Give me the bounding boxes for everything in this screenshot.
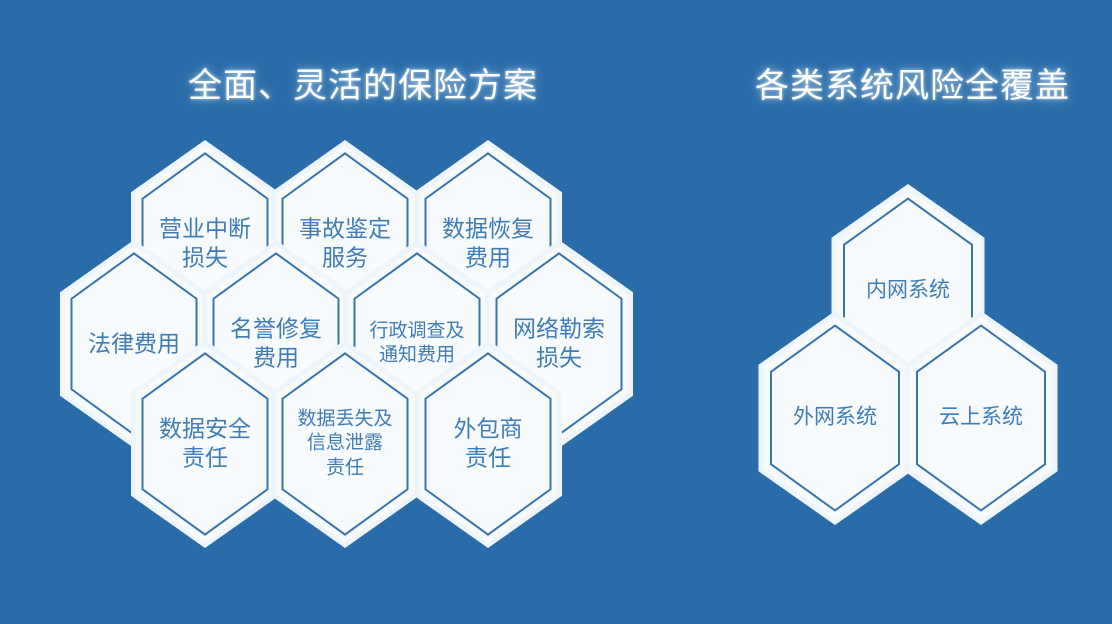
- system-risk-coverage-honeycomb: [761, 187, 1055, 522]
- insurance-coverage-honeycomb: [63, 143, 631, 545]
- honeycomb-diagram: [0, 0, 1112, 624]
- slide-canvas: 全面、灵活的保险方案 各类系统风险全覆盖 营业中断 损失事故鉴定 服务数据恢复 …: [0, 0, 1112, 624]
